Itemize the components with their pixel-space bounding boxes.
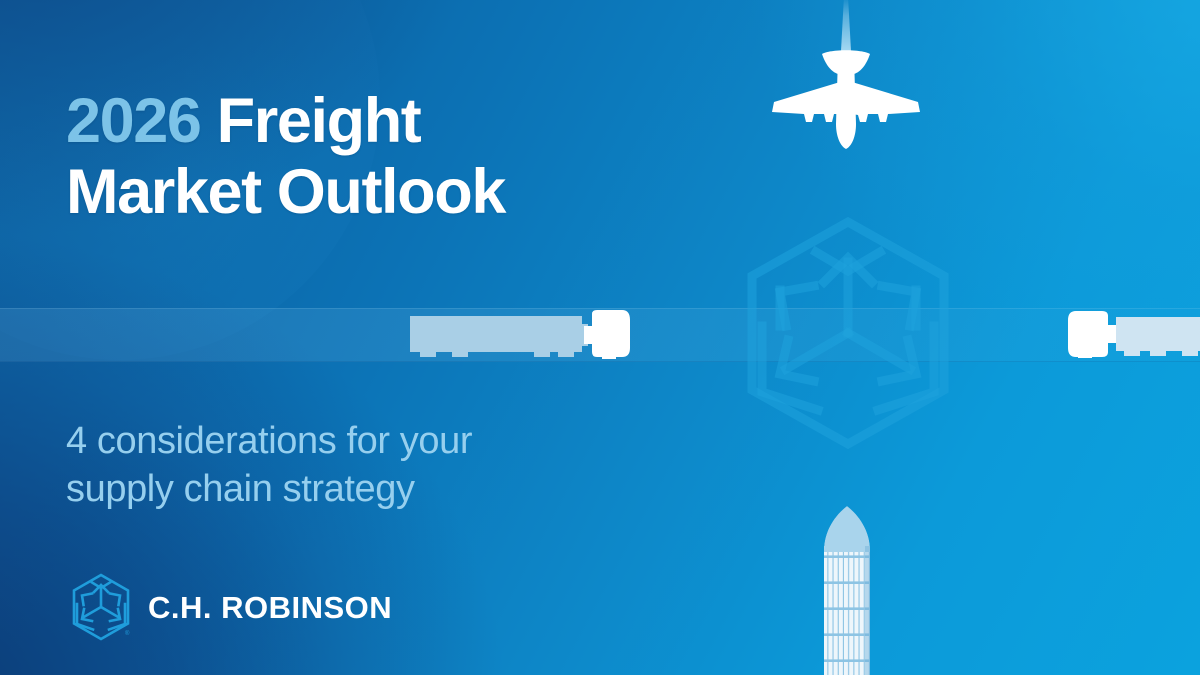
semi-truck-eastbound-icon bbox=[1062, 310, 1200, 358]
headline-word-freight: Freight bbox=[201, 86, 421, 156]
airplane-top-view-icon bbox=[768, 36, 924, 150]
highway-edge-bottom bbox=[0, 361, 1200, 362]
subtitle-line-2: supply chain strategy bbox=[66, 468, 415, 510]
logo-wordmark: C.H. ROBINSON bbox=[148, 590, 392, 626]
highway-edge-top bbox=[0, 308, 1200, 309]
brand-logo: ® C.H. ROBINSON bbox=[70, 573, 392, 643]
promo-graphic-canvas: 2026 Freight Market Outlook 4 considerat… bbox=[0, 0, 1200, 675]
logo-trademark-symbol: ® bbox=[125, 630, 130, 637]
ch-robinson-cube-hexagon-icon: ® bbox=[70, 573, 132, 643]
page-title: 2026 Freight Market Outlook bbox=[66, 86, 706, 227]
page-subtitle: 4 considerations for your supply chain s… bbox=[66, 418, 666, 514]
semi-truck-westbound-icon bbox=[406, 310, 634, 360]
cube-hexagon-watermark-icon bbox=[736, 214, 960, 452]
skyscraper-building-icon bbox=[818, 506, 876, 675]
headline-year: 2026 bbox=[66, 86, 201, 156]
subtitle-line-1: 4 considerations for your bbox=[66, 420, 472, 462]
headline-line-2: Market Outlook bbox=[66, 157, 505, 227]
